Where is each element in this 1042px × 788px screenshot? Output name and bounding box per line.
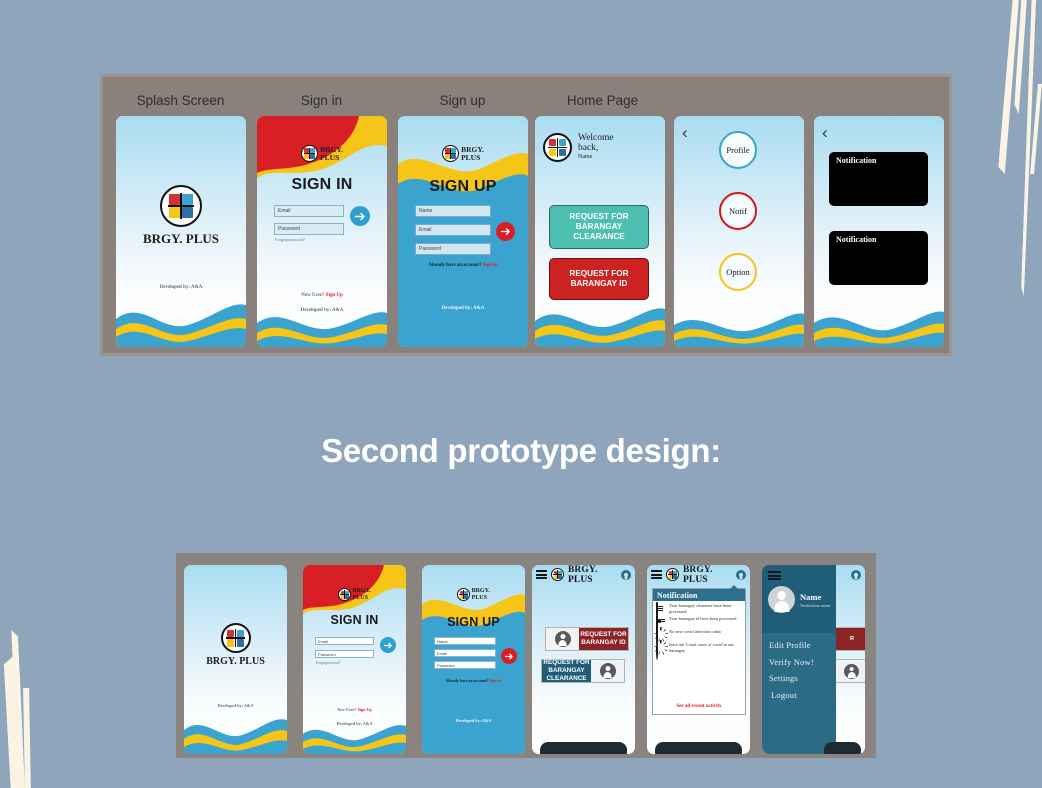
have-account-prompt[interactable]: Already have an account? Sign In — [398, 263, 528, 268]
screen-splash-v1[interactable]: BRGY. PLUS Developed by: A&A — [116, 116, 246, 347]
new-user-prefix: New User? — [301, 293, 324, 298]
forgot-password-link[interactable]: Forgetpassword? — [275, 237, 305, 242]
request-barangay-id-tile[interactable]: REQUEST FOR BARANGAY ID — [545, 627, 629, 651]
brush-stroke — [10, 630, 27, 788]
brush-stroke — [998, 0, 1019, 174]
brand-text: BRGY. PLUS — [461, 146, 484, 161]
navigation-drawer[interactable]: Name Verification astute Edit Profile Ve… — [762, 565, 836, 754]
wave-decoration — [814, 297, 944, 347]
sign-in-link[interactable]: Sign In — [483, 263, 498, 268]
splash-brand-text: BRGY. PLUS — [184, 657, 287, 667]
person-icon — [600, 663, 616, 679]
have-account-prefix: Already have an account? — [445, 679, 488, 683]
person-icon — [555, 631, 571, 647]
name-field[interactable]: Name — [434, 637, 496, 645]
notif-circle-button[interactable]: Notif — [719, 192, 757, 230]
option-circle-button[interactable]: Option — [719, 253, 757, 291]
brush-stroke — [23, 688, 31, 788]
slide-heading: Second prototype design: — [0, 432, 1042, 470]
email-field[interactable]: Email — [274, 205, 344, 217]
barangay-plus-logo-icon — [442, 145, 459, 162]
notification-label: Notification — [836, 235, 876, 244]
password-field[interactable]: Password — [434, 661, 496, 669]
notification-row[interactable]: there are 3 total cases of covid in our … — [653, 640, 745, 653]
drawer-user-name: Name — [800, 592, 831, 602]
label-sign-up: Sign up — [400, 93, 525, 108]
screen-title: SIGN UP — [422, 615, 525, 629]
screen-options-v1[interactable]: ‹ Profile Notif Option — [674, 116, 804, 347]
notification-card[interactable]: Notification — [829, 231, 928, 285]
have-account-prompt[interactable]: Already have an account? Sign In — [422, 679, 525, 683]
developed-by-text: Developed by: A&A — [422, 718, 525, 723]
virus-icon — [656, 642, 666, 653]
user-name: Name — [578, 154, 614, 160]
drawer-user-status: Verification astute — [800, 603, 831, 608]
screen-splash-v2[interactable]: BRGY. PLUS Developed by: A&A — [184, 565, 287, 754]
bottom-bar — [824, 742, 861, 754]
barangay-plus-logo-icon — [338, 588, 351, 601]
email-field[interactable]: Email — [415, 224, 491, 236]
barangay-plus-logo-icon — [457, 588, 470, 601]
notification-panel-title: Notification — [653, 589, 745, 601]
submit-arrow-button[interactable] — [380, 637, 396, 653]
notification-label: Notification — [836, 156, 876, 165]
brush-stroke — [1030, 84, 1041, 174]
new-user-prompt[interactable]: New User? Sign Up — [257, 293, 387, 298]
drawer-header: Name Verification astute — [762, 565, 836, 633]
screen-title: SIGN IN — [257, 176, 387, 194]
barangay-plus-logo-icon — [666, 568, 679, 581]
document-icon — [656, 603, 666, 614]
prototype-two-board: BRGY. PLUS Developed by: A&A BRGY. PLUS … — [176, 553, 876, 758]
drawer-item-edit-profile[interactable]: Edit Profile — [769, 640, 836, 650]
app-bar-title: BRGY. PLUS — [568, 565, 617, 585]
app-bar: BRGY. PLUS — [647, 565, 750, 584]
brush-stroke — [1014, 0, 1027, 114]
have-account-prefix: Already have an account? — [428, 263, 481, 268]
sign-up-link[interactable]: Sign Up — [326, 293, 343, 298]
account-avatar-icon[interactable] — [851, 570, 861, 580]
screen-title: SIGN UP — [398, 178, 528, 196]
email-field[interactable]: Email — [315, 637, 374, 645]
brush-stroke — [1021, 0, 1036, 296]
arrow-right-icon — [505, 653, 514, 660]
brand-header: BRGY. PLUS — [303, 588, 406, 601]
barangay-plus-logo-icon — [301, 145, 318, 162]
screen-home-v2[interactable]: BRGY. PLUS REQUEST FOR BARANGAY ID REQUE… — [532, 565, 635, 754]
account-avatar-icon[interactable] — [736, 570, 746, 580]
barangay-plus-logo-icon — [160, 185, 202, 227]
notification-dropdown[interactable]: Notification Your barangay clearance hav… — [652, 588, 746, 715]
see-all-activity-link[interactable]: See all recent activity — [653, 704, 745, 709]
developed-by-text: Developed by: A&A — [184, 703, 287, 708]
barangay-plus-logo-icon — [551, 568, 564, 581]
notification-row[interactable]: No new covid infection today — [653, 627, 745, 640]
email-field[interactable]: Email — [434, 649, 496, 657]
brand-header: BRGY. PLUS — [257, 145, 387, 162]
splash-logo-wrap — [116, 185, 246, 227]
tile-person-icon-wrap — [835, 660, 865, 682]
request-barangay-clearance-tile[interactable] — [834, 659, 865, 683]
splash-brand-text: BRGY. PLUS — [116, 232, 246, 245]
hamburger-menu-icon[interactable] — [651, 570, 662, 579]
wave-decoration — [184, 706, 287, 754]
prototype-one-board: Splash Screen Sign in Sign up Home Page … — [100, 74, 952, 356]
wave-decoration — [257, 299, 387, 347]
notification-card[interactable]: Notification — [829, 152, 928, 206]
app-bar-title: BRGY. PLUS — [683, 565, 732, 585]
chevron-left-icon[interactable]: ‹ — [682, 124, 688, 141]
barangay-plus-logo-icon — [221, 623, 251, 653]
tile-label: REQUEST FOR BARANGAY ID — [579, 628, 628, 650]
wave-decoration — [116, 289, 246, 347]
dropdown-caret-icon — [730, 585, 738, 589]
tile-person-icon-wrap — [546, 628, 579, 650]
drawer-item-settings[interactable]: Settings — [769, 673, 836, 683]
brand-header: BRGY. PLUS — [422, 588, 525, 601]
label-sign-in: Sign in — [259, 93, 384, 108]
name-field[interactable]: Name — [415, 205, 491, 217]
wave-decoration — [535, 293, 665, 347]
notification-text: No new covid infection today — [669, 629, 721, 635]
profile-circle-button[interactable]: Profile — [719, 131, 757, 169]
account-avatar-icon[interactable] — [621, 570, 631, 580]
developed-by-text: Developed by: A&A — [116, 285, 246, 290]
splash-logo-wrap — [184, 623, 287, 653]
password-field[interactable]: Password — [415, 243, 491, 255]
new-user-prompt[interactable]: New User? Sign Up — [303, 707, 406, 712]
request-barangay-clearance-button[interactable]: REQUEST FOR BARANGAY CLEARANCE — [549, 205, 649, 249]
drawer-item-verify-now[interactable]: Verify Now! — [769, 657, 836, 667]
screen-signup-v2[interactable]: BRGY. PLUS SIGN UP Name Email Password A… — [422, 565, 525, 754]
drawer-item-logout[interactable]: Logout — [769, 690, 836, 700]
screen-drawer-v2[interactable]: R Name Verification astute Edit Profile — [762, 565, 865, 754]
screen-signup-v1[interactable]: BRGY. PLUS SIGN UP Name Email Password A… — [398, 116, 528, 347]
request-barangay-clearance-tile[interactable]: REQUEST FOR BARANGAY CLEARANCE — [541, 659, 625, 683]
brand-header: BRGY. PLUS — [398, 145, 528, 162]
notification-row[interactable]: Your barangay id have been processed — [653, 614, 745, 627]
welcome-block: Welcome back, Name — [543, 133, 614, 162]
wave-decoration — [303, 716, 406, 754]
person-icon — [844, 664, 859, 679]
arrow-right-icon — [355, 212, 366, 221]
submit-arrow-button[interactable] — [350, 206, 370, 226]
notification-text: Your barangay clearance have been proces… — [669, 603, 741, 614]
screen-notifications-v1[interactable]: ‹ Notification Notification — [814, 116, 944, 347]
brand-text: BRGY. PLUS — [320, 146, 343, 161]
notification-text: Your barangay id have been processed — [669, 616, 736, 622]
welcome-line-2: back, — [578, 144, 614, 154]
sign-in-link[interactable]: Sign In — [490, 679, 502, 683]
app-bar: BRGY. PLUS — [532, 565, 635, 584]
arrow-right-icon — [501, 227, 511, 236]
screen-title: SIGN IN — [303, 613, 406, 627]
prototype-one-labels: Splash Screen Sign in Sign up Home Page — [103, 93, 949, 115]
screen-notification-v2[interactable]: BRGY. PLUS Notification Your barangay cl… — [647, 565, 750, 754]
barangay-plus-logo-icon — [543, 133, 572, 162]
chevron-left-icon[interactable]: ‹ — [822, 124, 828, 141]
bottom-bar — [655, 742, 742, 754]
arrow-right-icon — [384, 642, 393, 649]
developed-by-text: Developed by: A&A — [398, 306, 528, 311]
brand-text: BRGY. PLUS — [472, 588, 490, 600]
notification-row[interactable]: Your barangay clearance have been proces… — [653, 601, 745, 614]
brush-stroke — [4, 656, 20, 788]
password-field[interactable]: Password — [315, 650, 374, 658]
drawer-menu: Edit Profile Verify Now! Settings Logout — [762, 633, 836, 700]
hamburger-menu-icon[interactable] — [768, 571, 781, 580]
submit-arrow-button[interactable] — [501, 648, 517, 664]
submit-arrow-button[interactable] — [496, 222, 515, 241]
wave-decoration — [674, 299, 804, 347]
hamburger-menu-icon[interactable] — [536, 570, 547, 579]
bottom-bar — [540, 742, 627, 754]
brand-text: BRGY. PLUS — [353, 588, 371, 600]
virus-icon — [656, 629, 666, 640]
person-icon — [768, 586, 795, 613]
forgot-password-link[interactable]: Forgetpassword? — [316, 661, 341, 665]
notification-text: there are 3 total cases of covid in our … — [669, 642, 741, 653]
label-splash-screen: Splash Screen — [118, 93, 243, 108]
tile-label: REQUEST FOR BARANGAY CLEARANCE — [542, 660, 591, 682]
label-home-page: Home Page — [540, 93, 665, 108]
screen-signin-v2[interactable]: BRGY. PLUS SIGN IN Email Password Forget… — [303, 565, 406, 754]
tile-person-icon-wrap — [591, 660, 624, 682]
screen-home-v1[interactable]: Welcome back, Name REQUEST FOR BARANGAY … — [535, 116, 665, 347]
password-field[interactable]: Password — [274, 223, 344, 235]
id-card-icon — [656, 616, 666, 627]
sign-up-link[interactable]: Sign Up — [358, 707, 372, 712]
new-user-prefix: New User? — [337, 707, 356, 712]
screen-signin-v1[interactable]: BRGY. PLUS SIGN IN Email Password Forget… — [257, 116, 387, 347]
